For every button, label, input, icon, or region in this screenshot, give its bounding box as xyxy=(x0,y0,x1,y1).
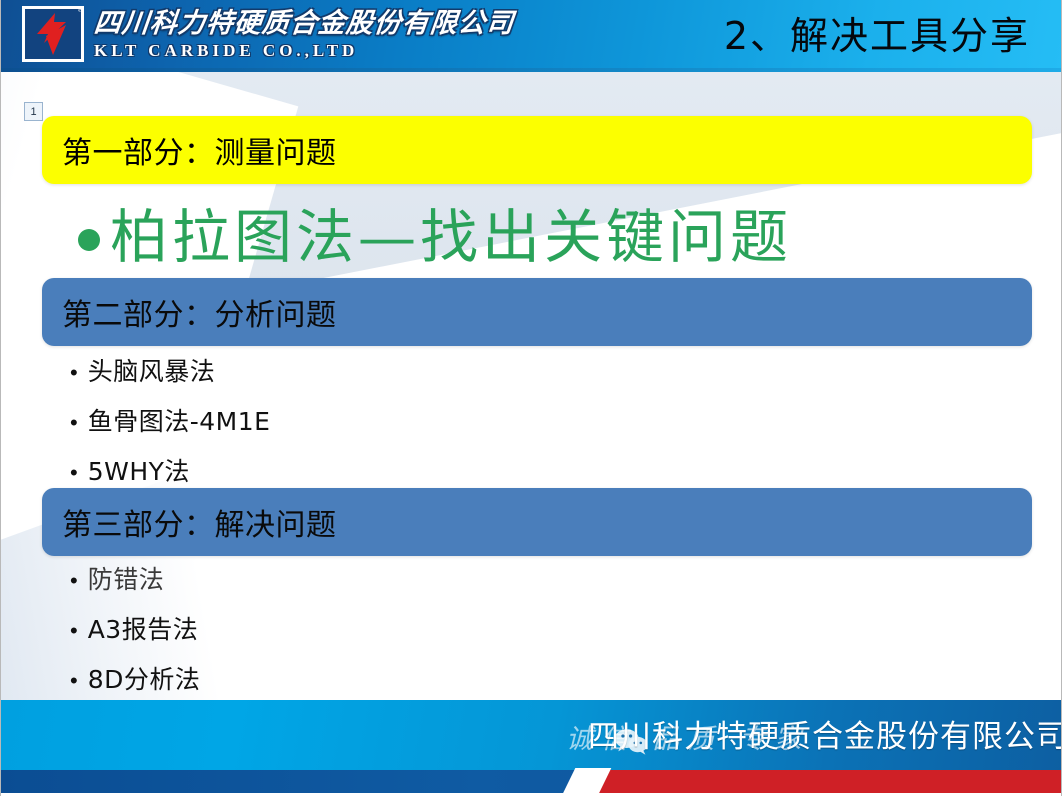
list-item[interactable]: • A3报告法 xyxy=(70,610,770,646)
list-item-label: 8D分析法 xyxy=(88,660,201,696)
list-item-label: 5WHY法 xyxy=(88,452,190,488)
list-item-label: 头脑风暴法 xyxy=(88,352,216,388)
lightning-bolt-icon xyxy=(33,12,73,56)
bullet-dot-icon: • xyxy=(70,362,78,384)
bullet-dot-icon: • xyxy=(70,570,78,592)
list-item[interactable]: • 防错法 xyxy=(70,560,770,596)
list-item[interactable]: • 鱼骨图法-4M1E xyxy=(70,402,770,438)
list-item[interactable]: • 头脑风暴法 xyxy=(70,352,770,388)
bullet-dot-icon: • xyxy=(70,670,78,692)
section-bar-part-two[interactable]: 第二部分：分析问题 xyxy=(42,278,1032,346)
headline-text: 柏拉图法—找出关键问题 xyxy=(110,208,792,266)
page-title: 2、解决工具分享 xyxy=(724,6,1030,66)
registered-mark: ® xyxy=(78,7,83,14)
bullet-dot-icon: • xyxy=(70,412,78,434)
list-item-label: 鱼骨图法-4M1E xyxy=(88,402,271,438)
section-bar-label: 第一部分：测量问题 xyxy=(42,128,337,172)
headline-pareto: 柏拉图法—找出关键问题 xyxy=(78,196,1018,278)
section-three-list: • 防错法 • A3报告法 • 8D分析法 xyxy=(70,560,770,710)
headline-bullet-icon xyxy=(78,229,100,251)
list-item[interactable]: • 5WHY法 xyxy=(70,452,770,488)
slide-header: ® 四川科力特硬质合金股份有限公司 KLT CARBIDE CO.,LTD 2、… xyxy=(0,0,1062,72)
logo-text: 四川科力特硬质合金股份有限公司 KLT CARBIDE CO.,LTD xyxy=(94,10,514,59)
list-item-label: 防错法 xyxy=(88,560,165,596)
bullet-dot-icon: • xyxy=(70,620,78,642)
company-logo: ® 四川科力特硬质合金股份有限公司 KLT CARBIDE CO.,LTD xyxy=(22,6,514,62)
section-bar-part-one[interactable]: 第一部分：测量问题 xyxy=(42,116,1032,184)
logo-english-name: KLT CARBIDE CO.,LTD xyxy=(94,42,514,59)
list-item-label: A3报告法 xyxy=(88,610,199,646)
section-bar-part-three[interactable]: 第三部分：解决问题 xyxy=(42,488,1032,556)
frame-left-edge xyxy=(0,0,1,796)
slide-number-badge: 1 xyxy=(24,102,43,121)
logo-chinese-name: 四川科力特硬质合金股份有限公司 xyxy=(93,10,516,37)
presentation-slide: ® 四川科力特硬质合金股份有限公司 KLT CARBIDE CO.,LTD 2、… xyxy=(0,0,1062,796)
list-item[interactable]: • 8D分析法 xyxy=(70,660,770,696)
section-bar-label: 第二部分：分析问题 xyxy=(42,290,337,334)
footer-company-name: 四川科力特硬质合金股份有限公司 xyxy=(588,722,1062,753)
section-bar-label: 第三部分：解决问题 xyxy=(42,500,337,544)
bullet-dot-icon: • xyxy=(70,462,78,484)
logo-mark-icon: ® xyxy=(22,6,84,62)
section-two-list: • 头脑风暴法 • 鱼骨图法-4M1E • 5WHY法 xyxy=(70,352,770,502)
